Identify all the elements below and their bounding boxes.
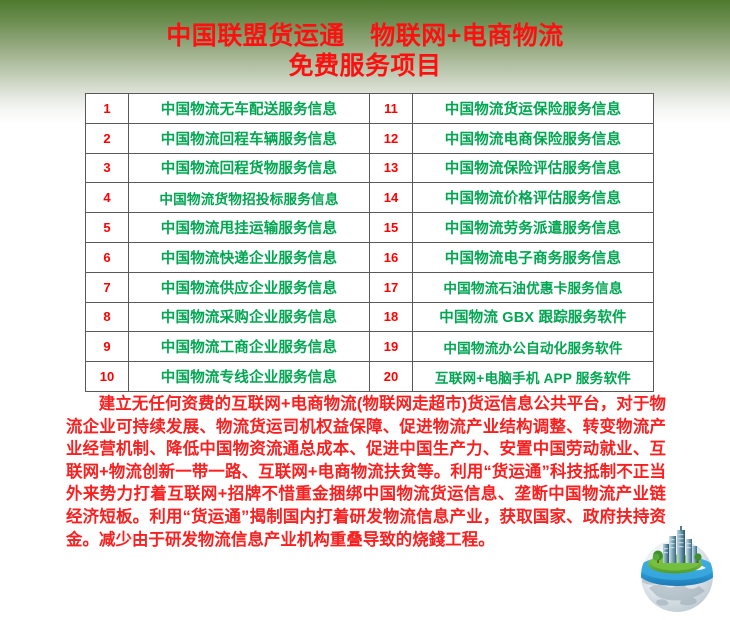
- item-label: 互联网+电脑手机 APP 服务软件: [413, 362, 654, 392]
- table-row: 1 中国物流无车配送服务信息 11 中国物流货运保险服务信息: [86, 94, 654, 124]
- item-label: 中国物流甩挂运输服务信息: [129, 213, 370, 243]
- item-number: 3: [86, 153, 129, 183]
- table-row: 7 中国物流供应企业服务信息 17 中国物流石油优惠卡服务信息: [86, 272, 654, 302]
- item-number: 13: [370, 153, 413, 183]
- title-line-1: 中国联盟货运通 物联网+电商物流: [0, 22, 730, 52]
- item-number: 17: [370, 272, 413, 302]
- green-city-globe-icon: [627, 522, 727, 616]
- item-label: 中国物流工商企业服务信息: [129, 332, 370, 362]
- item-label: 中国物流采购企业服务信息: [129, 302, 370, 332]
- item-number: 2: [86, 123, 129, 153]
- item-label: 中国物流价格评估服务信息: [413, 183, 654, 213]
- item-number: 19: [370, 332, 413, 362]
- item-label: 中国物流回程货物服务信息: [129, 153, 370, 183]
- service-items-body: 1 中国物流无车配送服务信息 11 中国物流货运保险服务信息 2 中国物流回程车…: [86, 94, 654, 392]
- item-label: 中国物流 GBX 跟踪服务软件: [413, 302, 654, 332]
- item-number: 5: [86, 213, 129, 243]
- item-label: 中国物流供应企业服务信息: [129, 272, 370, 302]
- table-row: 3 中国物流回程货物服务信息 13 中国物流保险评估服务信息: [86, 153, 654, 183]
- item-number: 16: [370, 242, 413, 272]
- item-label: 中国物流无车配送服务信息: [129, 94, 370, 124]
- item-label: 中国物流电子商务服务信息: [413, 242, 654, 272]
- table-row: 8 中国物流采购企业服务信息 18 中国物流 GBX 跟踪服务软件: [86, 302, 654, 332]
- item-number: 6: [86, 242, 129, 272]
- service-items-table: 1 中国物流无车配送服务信息 11 中国物流货运保险服务信息 2 中国物流回程车…: [85, 93, 654, 392]
- item-label: 中国物流电商保险服务信息: [413, 123, 654, 153]
- item-number: 4: [86, 183, 129, 213]
- item-number: 14: [370, 183, 413, 213]
- table-row: 6 中国物流快递企业服务信息 16 中国物流电子商务服务信息: [86, 242, 654, 272]
- table-row: 5 中国物流甩挂运输服务信息 15 中国物流劳务派遣服务信息: [86, 213, 654, 243]
- table-row: 10 中国物流专线企业服务信息 20 互联网+电脑手机 APP 服务软件: [86, 362, 654, 392]
- table-row: 4 中国物流货物招投标服务信息 14 中国物流价格评估服务信息: [86, 183, 654, 213]
- item-label: 中国物流货运保险服务信息: [413, 94, 654, 124]
- item-number: 1: [86, 94, 129, 124]
- table-row: 9 中国物流工商企业服务信息 19 中国物流办公自动化服务软件: [86, 332, 654, 362]
- item-number: 11: [370, 94, 413, 124]
- item-number: 12: [370, 123, 413, 153]
- item-number: 15: [370, 213, 413, 243]
- item-label: 中国物流办公自动化服务软件: [413, 332, 654, 362]
- title-line-2: 免费服务项目: [0, 52, 730, 82]
- table-row: 2 中国物流回程车辆服务信息 12 中国物流电商保险服务信息: [86, 123, 654, 153]
- item-label: 中国物流专线企业服务信息: [129, 362, 370, 392]
- page-title: 中国联盟货运通 物联网+电商物流 免费服务项目: [0, 22, 730, 81]
- item-number: 9: [86, 332, 129, 362]
- slide-background: 中国联盟货运通 物联网+电商物流 免费服务项目 1 中国物流无车配送服务信息 1…: [0, 0, 730, 620]
- item-label: 中国物流货物招投标服务信息: [129, 183, 370, 213]
- item-number: 10: [86, 362, 129, 392]
- description-paragraph: 建立无任何资费的互联网+电商物流(物联网走超市)货运信息公共平台，对于物流企业可…: [66, 393, 666, 551]
- item-number: 8: [86, 302, 129, 332]
- item-label: 中国物流石油优惠卡服务信息: [413, 272, 654, 302]
- item-number: 18: [370, 302, 413, 332]
- item-number: 7: [86, 272, 129, 302]
- item-label: 中国物流劳务派遣服务信息: [413, 213, 654, 243]
- item-number: 20: [370, 362, 413, 392]
- item-label: 中国物流快递企业服务信息: [129, 242, 370, 272]
- item-label: 中国物流回程车辆服务信息: [129, 123, 370, 153]
- item-label: 中国物流保险评估服务信息: [413, 153, 654, 183]
